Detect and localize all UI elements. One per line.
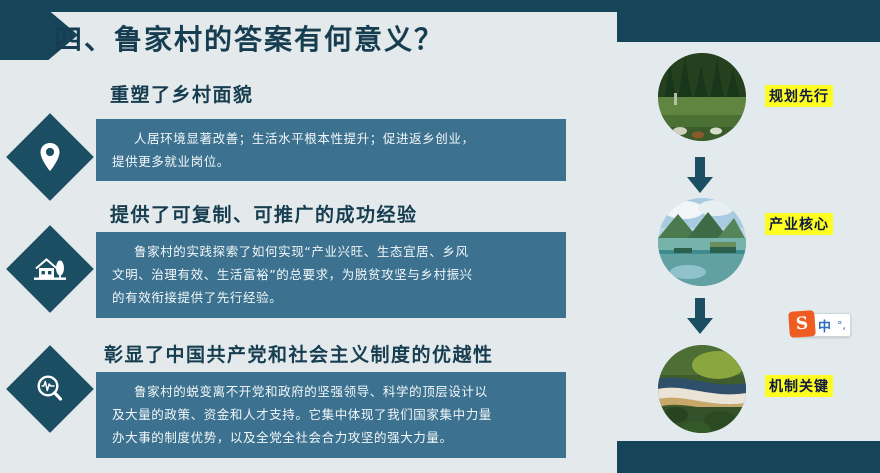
section-3-line-2: 及大量的政策、资金和人才支持。它集中体现了我们国家集中力量 <box>112 403 552 426</box>
page-title: 四、鲁家村的答案有何意义？ <box>54 18 444 58</box>
aerial-village-image <box>658 345 746 433</box>
flow-label-1: 规划先行 <box>765 85 833 107</box>
ime-punctuation-toggle[interactable]: °, <box>837 319 846 332</box>
section-1-heading: 重塑了乡村面貌 <box>110 80 254 107</box>
aerial-village-photo <box>658 345 746 433</box>
section-3-heading: 彰显了中国共产党和社会主义制度的优越性 <box>104 340 494 367</box>
slide-content-panel: 四、鲁家村的答案有何意义？ 重塑了乡村面貌 人居环境显著改善；生活水平根本性提升… <box>0 0 617 473</box>
section-3-textbox: 鲁家村的蜕变离不开党和政府的坚强领导、科学的顶层设计以 及大量的政策、资金和人才… <box>96 372 566 458</box>
section-1-line-1: 人居环境显著改善；生活水平根本性提升；促进返乡创业， <box>112 127 552 150</box>
magnifier-pulse-icon <box>6 345 94 433</box>
sogou-logo-icon[interactable]: S <box>788 310 816 338</box>
location-pin-icon <box>6 113 94 201</box>
forest-meadow-photo <box>658 53 746 141</box>
section-2-line-2: 文明、治理有效、生活富裕”的总要求，为脱贫攻坚与乡村振兴 <box>112 263 552 286</box>
flow-label-3: 机制关键 <box>765 375 833 397</box>
location-pin-glyph <box>37 142 63 172</box>
flow-label-2: 产业核心 <box>765 213 833 235</box>
section-2-heading: 提供了可复制、可推广的成功经验 <box>110 200 418 227</box>
mountain-lake-image <box>658 198 746 286</box>
arrow-down-icon <box>687 157 713 193</box>
section-3-line-1: 鲁家村的蜕变离不开党和政府的坚强领导、科学的顶层设计以 <box>112 380 552 403</box>
top-accent-bar <box>0 0 617 12</box>
house-tree-glyph <box>33 255 67 283</box>
arrow-down-icon <box>687 298 713 334</box>
section-2-line-1: 鲁家村的实践探索了如何实现“产业兴旺、生态宜居、乡风 <box>112 240 552 263</box>
flow-diagram-panel: 规划先行 产业核心 <box>617 0 880 473</box>
forest-meadow-image <box>658 53 746 141</box>
section-2-textbox: 鲁家村的实践探索了如何实现“产业兴旺、生态宜居、乡风 文明、治理有效、生活富裕”… <box>96 232 566 318</box>
magnifier-pulse-glyph <box>35 374 65 404</box>
ime-language-mode[interactable]: 中 <box>818 316 831 335</box>
section-3-line-3: 办大事的制度优势，以及全党全社会合力攻坚的强大力量。 <box>112 426 552 449</box>
section-1-textbox: 人居环境显著改善；生活水平根本性提升；促进返乡创业， 提供更多就业岗位。 <box>96 119 566 181</box>
mountain-lake-photo <box>658 198 746 286</box>
house-tree-icon <box>6 225 94 313</box>
section-2-line-3: 的有效衔接提供了先行经验。 <box>112 286 552 309</box>
right-panel-top-bar <box>617 0 880 42</box>
section-1-line-2: 提供更多就业岗位。 <box>112 150 552 173</box>
right-panel-bottom-bar <box>617 441 880 473</box>
